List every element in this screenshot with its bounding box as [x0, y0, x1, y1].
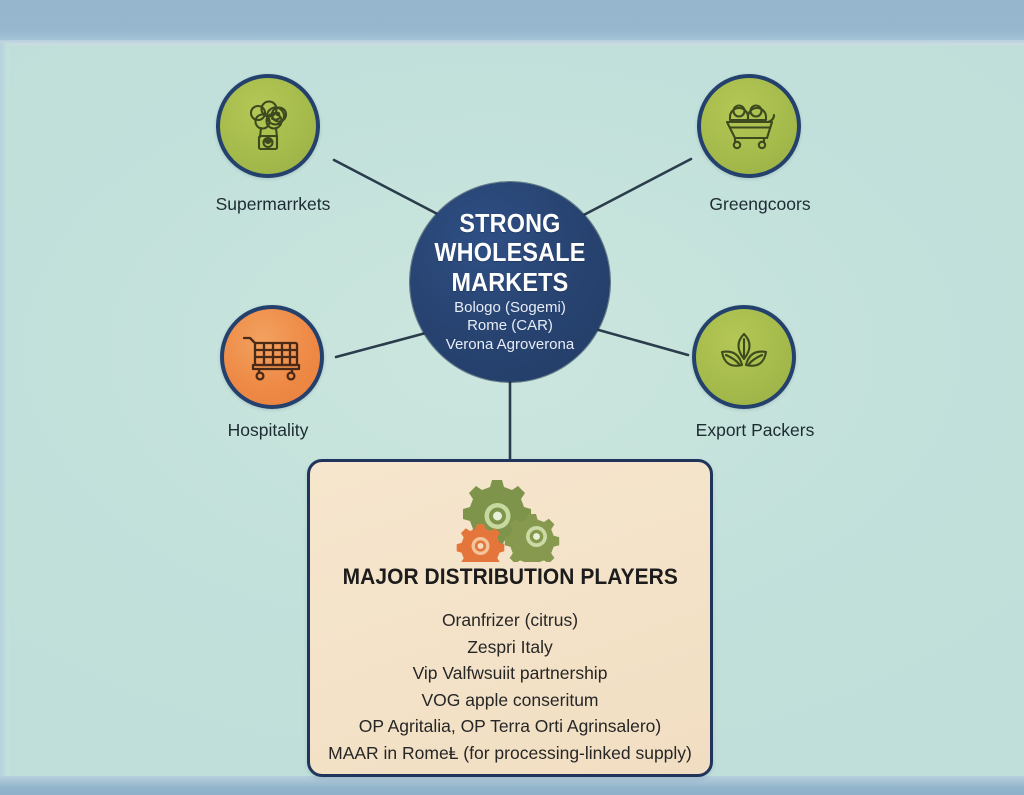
major-distribution-players-panel[interactable]: MAJOR DISTRIBUTION PLAYERS Oranfrizer (c…: [307, 459, 713, 777]
list-item: Vip Valfwsuiit partnership: [310, 660, 710, 687]
hub-subtitle-line-2: Rome (CAR): [446, 317, 574, 336]
node-label-greengcoors: Greengcoors: [645, 194, 875, 215]
hub-title-line-1: STRONG: [434, 209, 585, 239]
broccoli-tree-icon: [238, 96, 298, 156]
list-item: VOG apple conseritum: [310, 687, 710, 714]
list-item: Zespri Italy: [310, 634, 710, 661]
gears-icon: [454, 476, 566, 562]
shopping-trolley-icon: [240, 329, 304, 385]
connector-export: [588, 327, 688, 355]
list-item: OP Agritalia, OP Terra Orti Agrinsalero): [310, 713, 710, 740]
hub-subtitle-line-1: Bologo (Sogemi): [446, 299, 574, 318]
hub-title: STRONG WHOLESALE MARKETS: [434, 209, 585, 298]
node-greengcoors[interactable]: [697, 74, 801, 178]
panel-title: MAJOR DISTRIBUTION PLAYERS: [342, 564, 677, 590]
node-supermarkets[interactable]: [216, 74, 320, 178]
three-leaves-icon: [714, 328, 774, 386]
node-export-packers[interactable]: [692, 305, 796, 409]
node-label-hospitality: Hospitality: [163, 420, 373, 441]
list-item: Oranfrizer (citrus): [310, 607, 710, 634]
hub-subtitle-line-3: Verona Agroverona: [446, 336, 574, 355]
hub-subtitle: Bologo (Sogemi) Rome (CAR) Verona Agrove…: [446, 299, 574, 356]
node-label-export-packers: Export Packers: [640, 420, 870, 441]
central-hub-node[interactable]: STRONG WHOLESALE MARKETS Bologo (Sogemi)…: [410, 182, 610, 382]
node-hospitality[interactable]: [220, 305, 324, 409]
list-item: MAAR in RomeⱠ (for processing-linked sup…: [310, 740, 710, 767]
hub-title-line-3: MARKETS: [434, 268, 585, 298]
panel-player-list: Oranfrizer (citrus) Zespri Italy Vip Val…: [310, 607, 710, 767]
connector-hospitality: [336, 330, 437, 357]
node-label-supermarkets: Supermarrkets: [168, 194, 378, 215]
diagram-canvas: STRONG WHOLESALE MARKETS Bologo (Sogemi)…: [0, 0, 1024, 795]
shopping-cart-produce-icon: [718, 98, 780, 154]
hub-title-line-2: WHOLESALE: [434, 238, 585, 268]
